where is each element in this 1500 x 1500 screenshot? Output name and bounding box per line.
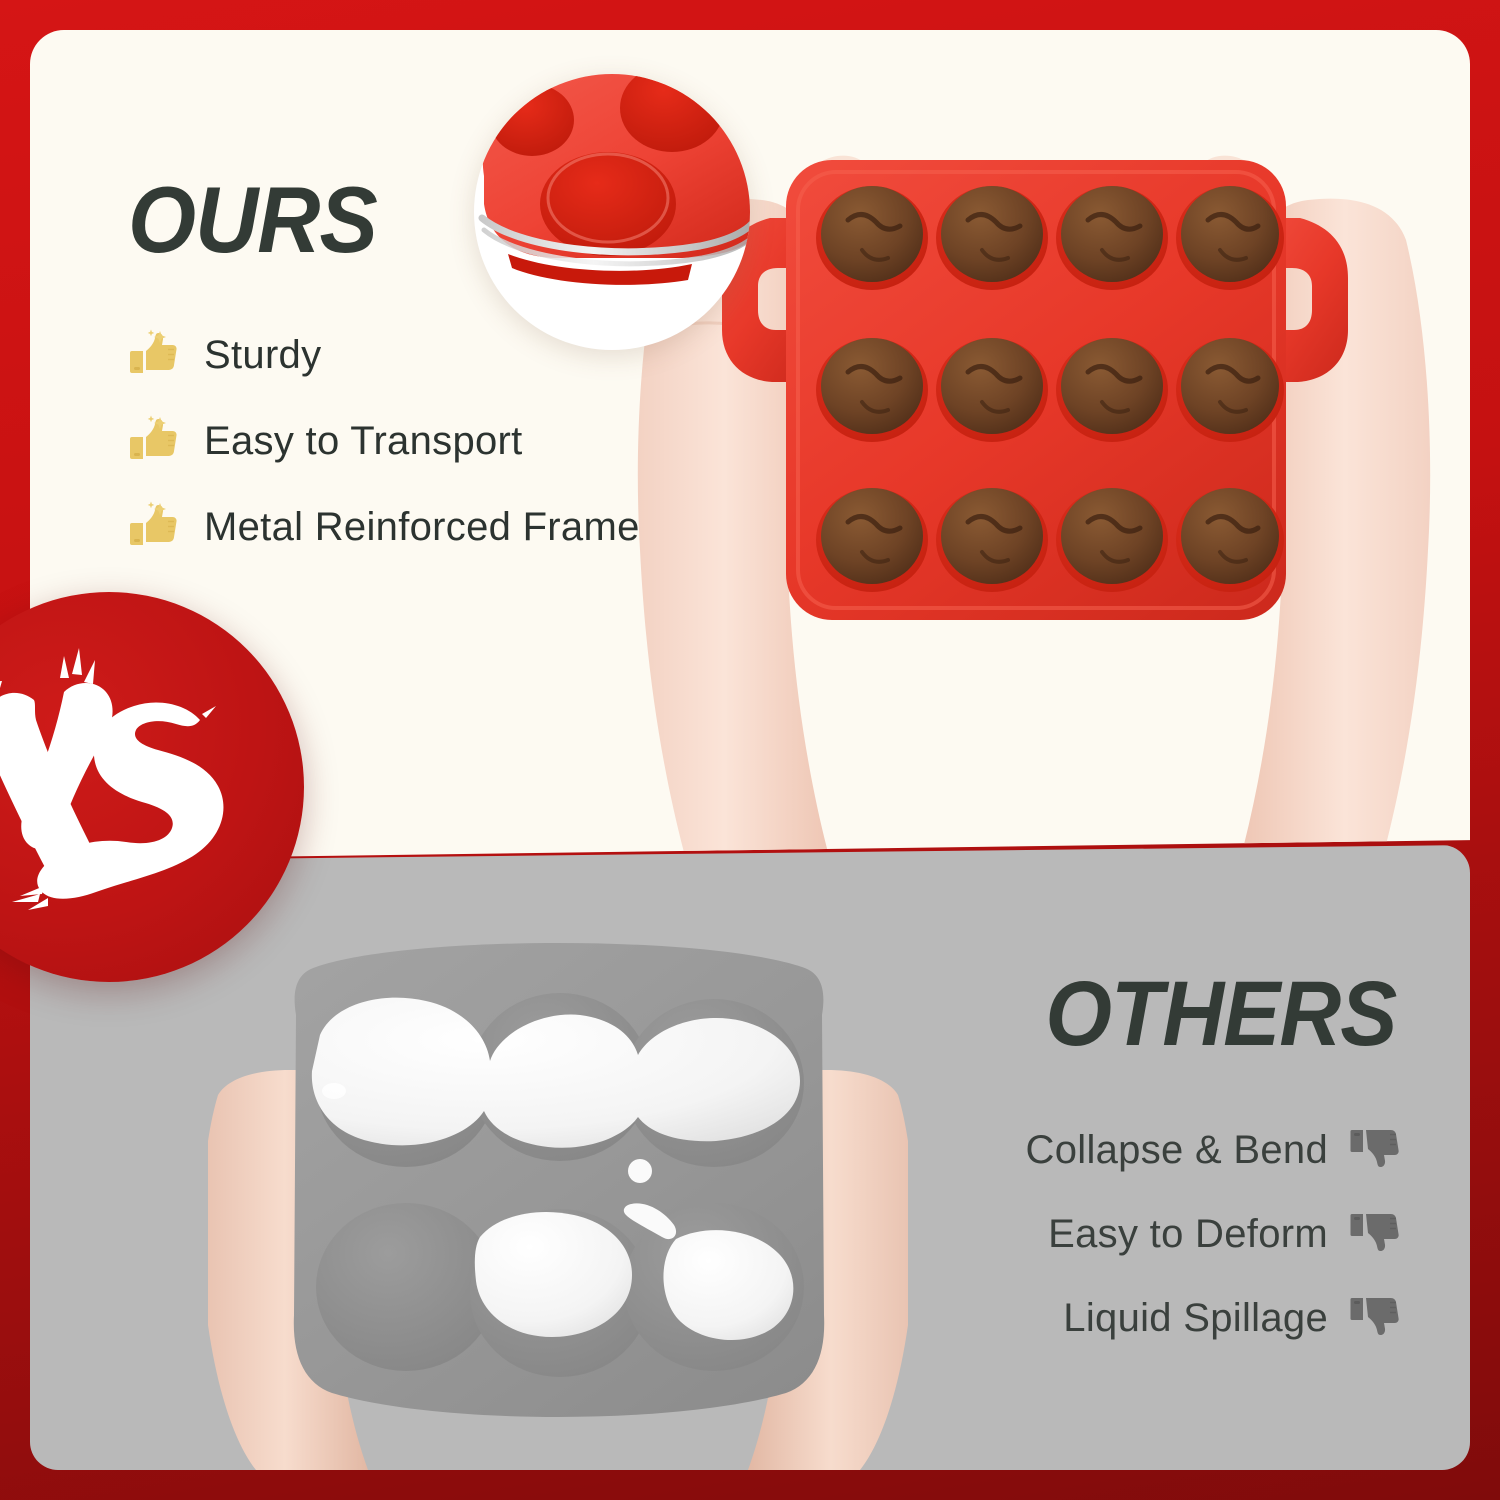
others-feature-list: Collapse & Bend Easy to Deform	[764, 1108, 1404, 1360]
ours-feature-item: Easy to Transport	[126, 398, 746, 484]
infographic-root: OURS Sturdy	[0, 0, 1500, 1500]
others-feature-label: Collapse & Bend	[1026, 1128, 1328, 1173]
others-feature-item: Easy to Deform	[764, 1192, 1404, 1276]
thumbs-up-icon	[126, 327, 182, 383]
others-feature-label: Easy to Deform	[1048, 1212, 1328, 1257]
thumbs-down-icon	[1348, 1122, 1404, 1178]
ours-feature-label: Sturdy	[204, 333, 321, 378]
ours-feature-label: Easy to Transport	[204, 419, 523, 464]
others-feature-item: Collapse & Bend	[764, 1108, 1404, 1192]
thumbs-up-icon	[126, 413, 182, 469]
thumbs-down-icon	[1348, 1206, 1404, 1262]
thumbs-down-icon	[1348, 1290, 1404, 1346]
vs-brush-lettering	[0, 592, 304, 982]
vs-badge	[0, 592, 304, 982]
ours-title: OURS	[128, 173, 377, 267]
ours-feature-list: Sturdy Easy to Transport	[126, 312, 746, 570]
ours-feature-item: Metal Reinforced Frame	[126, 484, 746, 570]
ours-feature-label: Metal Reinforced Frame	[204, 505, 640, 550]
metal-reinforced-frame-closeup	[474, 74, 750, 350]
thumbs-up-icon	[126, 499, 182, 555]
others-feature-label: Liquid Spillage	[1063, 1296, 1328, 1341]
others-feature-item: Liquid Spillage	[764, 1276, 1404, 1360]
others-title: OTHERS	[1045, 968, 1396, 1060]
